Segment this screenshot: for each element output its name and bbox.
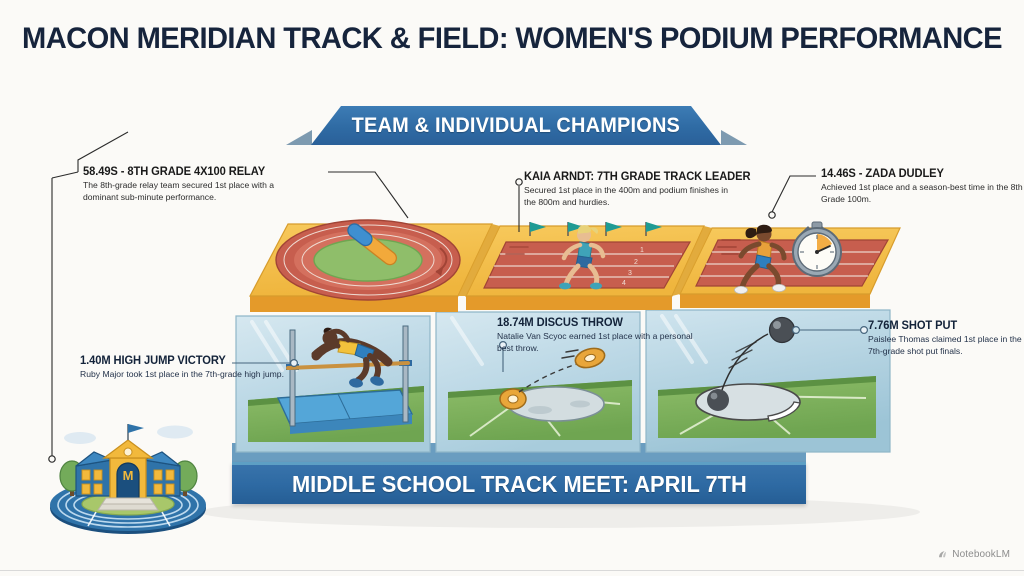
callout-relay-headline: 58.49S - 8TH GRADE 4X100 RELAY — [83, 166, 287, 178]
scene-center-runner: 1 2 3 4 — [466, 222, 704, 310]
callout-relay-body: The 8th-grade relay team secured 1st pla… — [83, 180, 293, 203]
scene-sprinter-stopwatch — [680, 222, 900, 308]
callout-shot-put-headline: 7.76M SHOT PUT — [868, 320, 1019, 332]
callout-discus: 18.74M DISCUS THROW Natalie Van Scyoc ea… — [497, 317, 707, 354]
svg-text:3: 3 — [628, 270, 632, 277]
bottom-banner: MIDDLE SCHOOL TRACK MEET: APRIL 7TH — [232, 462, 806, 504]
svg-text:1: 1 — [640, 247, 644, 254]
callout-kaia-body: Secured 1st place in the 400m and podium… — [524, 185, 734, 208]
callout-kaia: KAIA ARNDT: 7TH GRADE TRACK LEADER Secur… — [524, 171, 757, 208]
scene-relay-track — [250, 220, 492, 312]
watermark: NotebookLM — [937, 549, 1010, 560]
callout-zada-body: Achieved 1st place and a season-best tim… — [821, 182, 1024, 205]
callout-high-jump: 1.40M HIGH JUMP VICTORY Ruby Major took … — [80, 355, 284, 381]
bottom-banner-label: MIDDLE SCHOOL TRACK MEET: APRIL 7TH — [292, 471, 747, 498]
top-banner-label: TEAM & INDIVIDUAL CHAMPIONS — [352, 114, 680, 138]
school-icon: M — [50, 424, 206, 534]
callout-zada-headline: 14.46S - ZADA DUDLEY — [821, 168, 1018, 180]
notebooklm-icon — [937, 549, 948, 560]
watermark-label: NotebookLM — [952, 549, 1010, 560]
svg-text:2: 2 — [634, 259, 638, 266]
callout-relay: 58.49S - 8TH GRADE 4X100 RELAY The 8th-g… — [83, 166, 293, 203]
svg-text:4: 4 — [622, 280, 626, 287]
callout-high-jump-headline: 1.40M HIGH JUMP VICTORY — [80, 355, 278, 367]
callout-high-jump-body: Ruby Major took 1st place in the 7th-gra… — [80, 369, 284, 381]
callout-shot-put-body: Paislee Thomas claimed 1st place in the … — [868, 334, 1024, 357]
callout-discus-headline: 18.74M DISCUS THROW — [497, 317, 701, 329]
callout-shot-put: 7.76M SHOT PUT Paislee Thomas claimed 1s… — [868, 320, 1024, 357]
school-monogram: M — [123, 468, 134, 483]
callout-discus-body: Natalie Van Scyoc earned 1st place with … — [497, 331, 707, 354]
top-banner: TEAM & INDIVIDUAL CHAMPIONS — [311, 106, 721, 145]
callout-kaia-headline: KAIA ARNDT: 7TH GRADE TRACK LEADER — [524, 171, 750, 183]
callout-zada: 14.46S - ZADA DUDLEY Achieved 1st place … — [821, 168, 1024, 205]
